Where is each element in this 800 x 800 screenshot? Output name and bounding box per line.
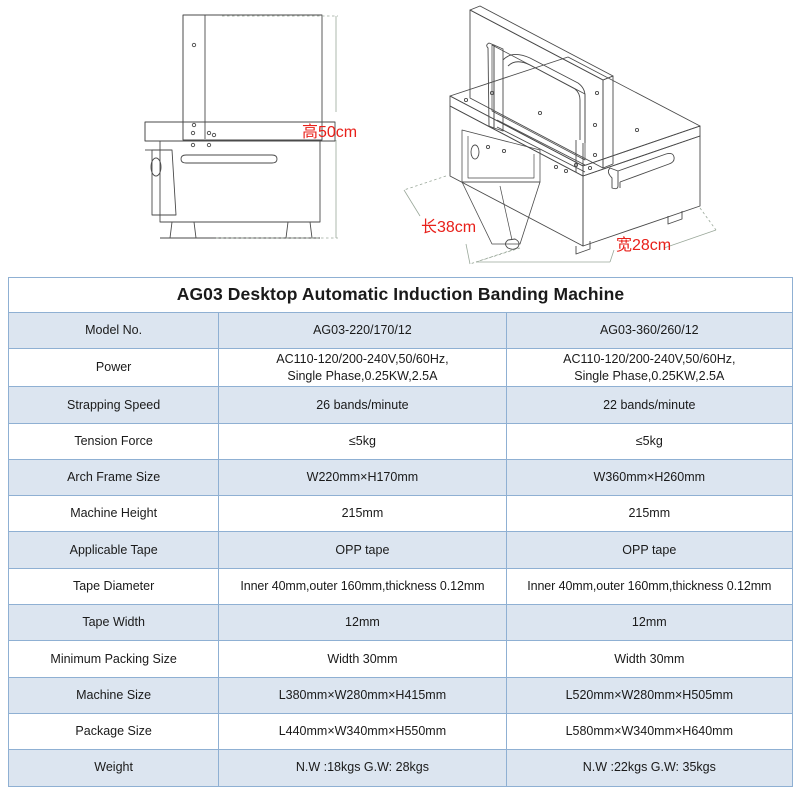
specification-table-container: AG03 Desktop Automatic Induction Banding… [8,277,793,787]
drawings-svg [0,0,800,272]
table-row: Weight N.W :18kgs G.W: 28kgs N.W :22kgs … [9,750,793,786]
row-value-model-2: AG03-360/260/12 [506,313,792,349]
row-value-model-1: N.W :18kgs G.W: 28kgs [219,750,506,786]
row-value-model-2: 22 bands/minute [506,387,792,423]
row-label: Tension Force [9,423,219,459]
table-row: Machine Height 215mm 215mm [9,496,793,532]
row-label: Package Size [9,713,219,749]
row-value-model-1: AG03-220/170/12 [219,313,506,349]
page-title: AG03 Desktop Automatic Induction Banding… [9,278,793,313]
table-row: Package Size L440mm×W340mm×H550mm L580mm… [9,713,793,749]
row-value-model-1: 215mm [219,496,506,532]
row-value-model-2: Inner 40mm,outer 160mm,thickness 0.12mm [506,568,792,604]
row-label: Strapping Speed [9,387,219,423]
table-row: Power AC110-120/200-240V,50/60Hz, Single… [9,349,793,387]
power-line-1: AC110-120/200-240V,50/60Hz, [222,351,502,368]
row-value-model-1: L380mm×W280mm×H415mm [219,677,506,713]
row-label: Arch Frame Size [9,459,219,495]
iso-width-dimension [476,208,716,262]
row-value-model-1: ≤5kg [219,423,506,459]
row-value-model-1: OPP tape [219,532,506,568]
power-line-1: AC110-120/200-240V,50/60Hz, [510,351,789,368]
table-row: Machine Size L380mm×W280mm×H415mm L520mm… [9,677,793,713]
row-label: Model No. [9,313,219,349]
row-label: Machine Size [9,677,219,713]
power-line-2: Single Phase,0.25KW,2.5A [510,368,789,385]
width-dimension-label: 宽28cm [616,231,671,255]
row-value-model-1: 26 bands/minute [219,387,506,423]
table-row: Strapping Speed 26 bands/minute 22 bands… [9,387,793,423]
row-label: Machine Height [9,496,219,532]
specification-table: AG03 Desktop Automatic Induction Banding… [8,277,793,787]
table-row: Tape Diameter Inner 40mm,outer 160mm,thi… [9,568,793,604]
row-value-model-2: Width 30mm [506,641,792,677]
row-value-model-1: Inner 40mm,outer 160mm,thickness 0.12mm [219,568,506,604]
row-label: Tape Diameter [9,568,219,604]
height-dimension-label: 高50cm [302,118,357,142]
row-value-model-1: W220mm×H170mm [219,459,506,495]
product-drawings-panel: 高50cm 长38cm 宽28cm [0,0,800,272]
row-value-model-2: 215mm [506,496,792,532]
row-value-model-2: AC110-120/200-240V,50/60Hz, Single Phase… [506,349,792,387]
row-label: Weight [9,750,219,786]
table-row: Model No. AG03-220/170/12 AG03-360/260/1… [9,313,793,349]
row-value-model-2: L580mm×W340mm×H640mm [506,713,792,749]
row-value-model-1: 12mm [219,605,506,641]
iso-width-dimension-line [476,230,716,262]
row-value-model-2: N.W :22kgs G.W: 35kgs [506,750,792,786]
row-value-model-2: 12mm [506,605,792,641]
table-row: Arch Frame Size W220mm×H170mm W360mm×H26… [9,459,793,495]
row-value-model-1: AC110-120/200-240V,50/60Hz, Single Phase… [219,349,506,387]
row-label: Minimum Packing Size [9,641,219,677]
row-value-model-2: OPP tape [506,532,792,568]
row-value-model-1: Width 30mm [219,641,506,677]
row-label: Applicable Tape [9,532,219,568]
row-value-model-2: ≤5kg [506,423,792,459]
table-title-row: AG03 Desktop Automatic Induction Banding… [9,278,793,313]
row-label: Power [9,349,219,387]
row-value-model-1: L440mm×W340mm×H550mm [219,713,506,749]
table-row: Applicable Tape OPP tape OPP tape [9,532,793,568]
row-value-model-2: W360mm×H260mm [506,459,792,495]
table-row: Tension Force ≤5kg ≤5kg [9,423,793,459]
length-dimension-label: 长38cm [421,213,476,237]
row-value-model-2: L520mm×W280mm×H505mm [506,677,792,713]
row-label: Tape Width [9,605,219,641]
isometric-geometry [450,6,700,254]
power-line-2: Single Phase,0.25KW,2.5A [222,368,502,385]
table-row: Minimum Packing Size Width 30mm Width 30… [9,641,793,677]
table-row: Tape Width 12mm 12mm [9,605,793,641]
